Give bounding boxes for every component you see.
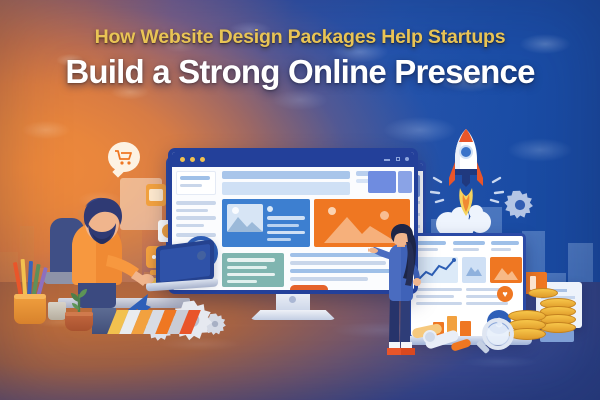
hero-banner: How Website Design Packages Help Startup…: [0, 0, 600, 400]
laptop[interactable]: [146, 243, 218, 299]
cta-button[interactable]: [290, 285, 328, 294]
monitor-logo-dot: [289, 296, 296, 303]
window-dot-green: [200, 157, 205, 162]
gear-icon-sky: [503, 188, 537, 222]
browser-titlebar: [172, 152, 414, 167]
monitor-base: [250, 310, 336, 320]
launch-rocket: [440, 128, 492, 234]
page-title: How Website Design Packages Help Startup…: [0, 26, 600, 91]
magnifying-glass-icon: [472, 318, 526, 358]
title-headline: Build a Strong Online Presence: [0, 54, 600, 91]
pencil-cup: [12, 262, 48, 328]
potted-plant: [62, 288, 96, 332]
window-dot-red: [180, 157, 185, 162]
title-eyebrow: How Website Design Packages Help Startup…: [0, 26, 600, 49]
shopping-cart-bubble: [108, 142, 140, 172]
standing-presenter: [368, 224, 432, 359]
window-dot-yellow: [190, 157, 195, 162]
color-swatches: [107, 310, 201, 334]
